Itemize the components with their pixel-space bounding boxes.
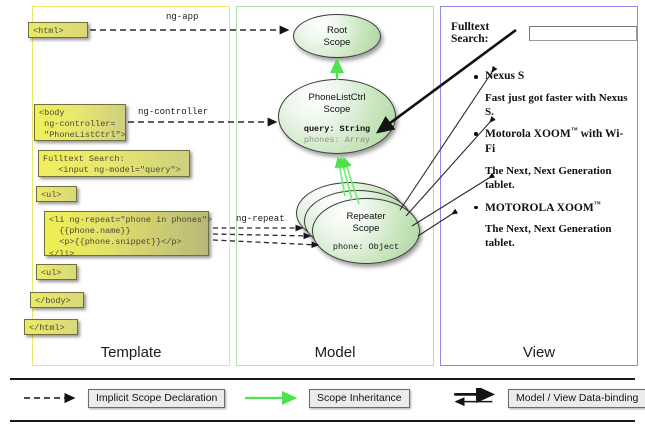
view-search-row: Fulltext Search: [451,21,637,45]
ul-open-box: <ul> [36,186,77,202]
legend-label-scope-inheritance: Scope Inheritance [309,389,410,408]
phone-list-ctrl-scope: PhoneListCtrlScope query: String phones:… [278,79,396,154]
scope-prop-query: query: String [279,124,395,135]
double-black-arrow-icon [450,388,502,408]
rendered-page: Fulltext Search: Nexus S Fast just got f… [441,7,637,365]
body-controller-box: <body ng-controller= "PhoneListCtrl"> [34,104,126,141]
column-label-model: Model [237,344,433,361]
wire-label-ng-app: ng-app [166,12,198,22]
search-input[interactable] [529,26,637,41]
scope-prop-phones: phones: Array [279,135,395,146]
view-search-label: Fulltext Search: [451,21,525,45]
phone-snippet: Fast just got faster with Nexus S. [451,91,633,120]
legend-divider-bottom [10,420,635,422]
phone-name: MOTOROLA XOOM™ [451,200,633,216]
bullet-icon [474,132,478,136]
trademark-icon: ™ [594,200,601,208]
phone-name-text: Nexus S [485,70,524,82]
scope-prop-phone: phone: Object [313,242,419,253]
legend-scope-inheritance: Scope Inheritance [243,388,410,408]
ul-close-box: <ul> [36,264,77,280]
li-ng-repeat-box: <li ng-repeat="phone in phones"> {{phone… [44,211,209,256]
column-label-template: Template [33,344,229,361]
phone-list-ctrl-scope-title: PhoneListCtrlScope [279,80,395,115]
phone-name-text: Motorola XOOM [485,128,571,140]
list-item[interactable]: MOTOROLA XOOM™ The Next, Next Generation… [451,200,633,251]
wire-label-ng-repeat: ng-repeat [236,214,285,224]
html-close-box: </html> [24,319,78,335]
legend: Implicit Scope Declaration Scope Inherit… [0,386,645,412]
solid-green-arrow-icon [243,388,303,408]
repeater-scope: RepeaterScope phone: Object [312,198,420,264]
phone-snippet: The Next, Next Generation tablet. [451,222,633,251]
phone-name: Motorola XOOM™ with Wi-Fi [451,126,633,158]
phone-name-text: MOTOROLA XOOM [485,201,594,213]
dashed-black-arrow-icon [22,388,82,408]
phone-name: Nexus S [451,69,633,85]
fulltext-search-box: Fulltext Search: <input ng-model="query"… [38,150,190,177]
root-scope-title: RootScope [294,15,380,48]
bullet-icon [474,75,478,79]
repeater-scope-title: RepeaterScope [313,199,419,234]
legend-label-model-view-data-binding: Model / View Data-binding [508,389,645,408]
phone-list-ctrl-scope-props: query: String phones: Array [279,124,395,146]
legend-implicit-scope-declaration: Implicit Scope Declaration [22,388,225,408]
phone-list: Nexus S Fast just got faster with Nexus … [451,69,633,258]
phone-snippet: The Next, Next Generation tablet. [451,164,633,193]
view-content-layer: Fulltext Search: Nexus S Fast just got f… [440,6,638,366]
diagram-root: Template Model View <html> <body ng-cont… [0,0,645,425]
list-item[interactable]: Nexus S Fast just got faster with Nexus … [451,69,633,119]
bullet-icon [474,206,478,210]
body-close-box: </body> [30,292,84,308]
legend-label-implicit-scope-declaration: Implicit Scope Declaration [88,389,225,408]
legend-divider-top [10,378,635,380]
list-item[interactable]: Motorola XOOM™ with Wi-Fi The Next, Next… [451,126,633,192]
root-scope: RootScope [293,14,381,58]
html-open-box: <html> [28,22,88,38]
trademark-icon: ™ [571,126,578,134]
legend-model-view-data-binding: Model / View Data-binding [450,388,645,408]
wire-label-ng-controller: ng-controller [138,107,208,117]
